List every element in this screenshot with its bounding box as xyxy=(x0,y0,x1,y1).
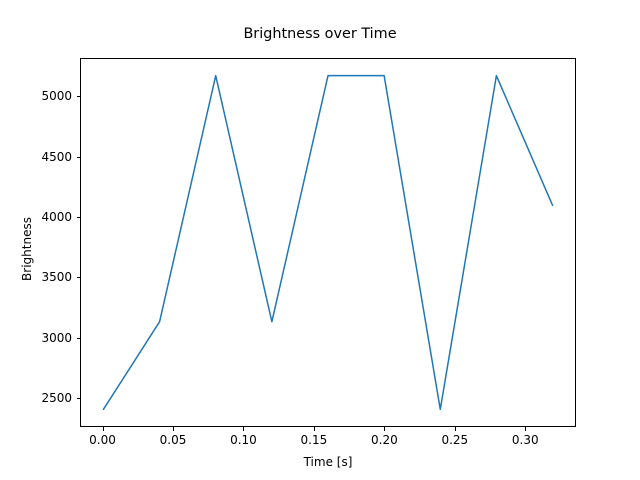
line-chart-svg xyxy=(81,59,575,426)
x-tick-mark xyxy=(173,427,174,431)
y-tick-label: 3000 xyxy=(28,331,72,345)
y-tick-mark xyxy=(77,277,81,278)
y-tick-label: 3500 xyxy=(28,270,72,284)
y-tick-mark xyxy=(77,96,81,97)
y-tick-label: 2500 xyxy=(28,391,72,405)
x-tick-label: 0.10 xyxy=(230,433,257,447)
x-tick-label: 0.30 xyxy=(512,433,539,447)
x-tick-mark xyxy=(314,427,315,431)
x-axis-label: Time [s] xyxy=(80,455,576,469)
x-tick-mark xyxy=(525,427,526,431)
y-tick-mark xyxy=(77,157,81,158)
plot-axes xyxy=(80,58,576,427)
x-tick-mark xyxy=(455,427,456,431)
y-tick-mark xyxy=(77,398,81,399)
x-tick-label: 0.00 xyxy=(89,433,116,447)
x-tick-mark xyxy=(103,427,104,431)
y-tick-mark xyxy=(77,217,81,218)
brightness-line-series xyxy=(103,76,552,410)
x-tick-label: 0.15 xyxy=(301,433,328,447)
y-axis-label: Brightness xyxy=(20,179,34,319)
figure-canvas: Brightness over Time 0.000.050.100.150.2… xyxy=(0,0,640,480)
y-tick-label: 4000 xyxy=(28,210,72,224)
y-tick-label: 4500 xyxy=(28,150,72,164)
x-tick-label: 0.25 xyxy=(441,433,468,447)
y-tick-mark xyxy=(77,338,81,339)
chart-title: Brightness over Time xyxy=(0,26,640,42)
x-tick-label: 0.20 xyxy=(371,433,398,447)
x-tick-label: 0.05 xyxy=(160,433,187,447)
x-tick-mark xyxy=(384,427,385,431)
x-tick-mark xyxy=(243,427,244,431)
y-tick-label: 5000 xyxy=(28,89,72,103)
